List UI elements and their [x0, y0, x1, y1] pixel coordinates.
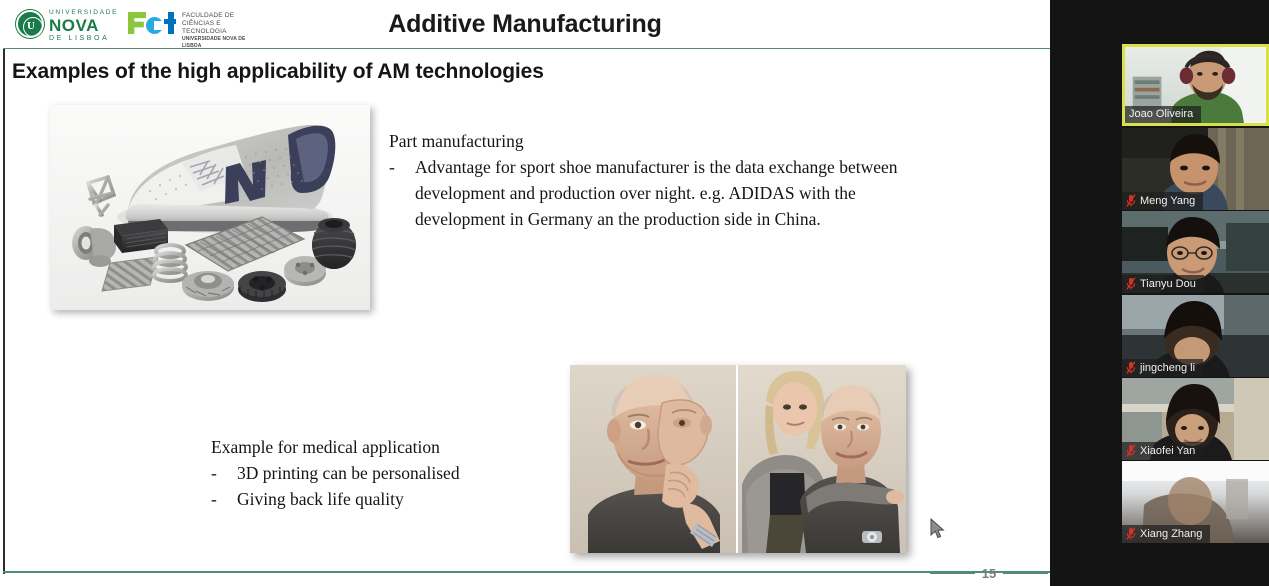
participant-video-strip[interactable]: Joao Oliveira: [1050, 0, 1269, 586]
participant-name: Joao Oliveira: [1129, 108, 1193, 120]
medical-photo-graphic: [570, 365, 906, 553]
part-manufacturing-title: Part manufacturing: [389, 128, 934, 154]
slide-number: 15: [982, 566, 996, 581]
participant-label: Xiaofei Yan: [1122, 442, 1203, 460]
bullet-marker: -: [211, 486, 237, 512]
participant-name: jingcheng li: [1140, 362, 1195, 374]
shoe-and-printed-parts-image: [50, 105, 370, 310]
slide-number-area: 15: [930, 562, 1048, 584]
part-manufacturing-bullet: - Advantage for sport shoe manufacturer …: [389, 154, 934, 232]
slide-heading: Examples of the high applicability of AM…: [12, 60, 544, 84]
slide-left-rule: [3, 44, 5, 574]
zoom-screen-share-window: U UNIVERSIDADE NOVA DE LISBOA: [0, 0, 1269, 586]
video-tile-xiang-zhang[interactable]: Xiang Zhang: [1122, 461, 1269, 543]
participant-name: Tianyu Dou: [1140, 278, 1196, 290]
participant-label: Meng Yang: [1122, 192, 1203, 210]
video-tile-tianyu-dou[interactable]: Tianyu Dou: [1122, 211, 1269, 293]
video-tile-jingcheng-li[interactable]: jingcheng li: [1122, 295, 1269, 377]
video-tile-meng-yang[interactable]: Meng Yang: [1122, 128, 1269, 210]
shared-presentation-slide: U UNIVERSIDADE NOVA DE LISBOA: [0, 0, 1050, 586]
mouse-cursor: [930, 518, 946, 540]
participant-label: Tianyu Dou: [1122, 275, 1204, 293]
shoe-photo-graphic: [50, 105, 370, 310]
participant-label: Joao Oliveira: [1125, 106, 1201, 123]
slide-footer-divider: [3, 571, 1050, 573]
medical-prosthesis-image: [570, 365, 906, 553]
video-tile-joao-oliveira[interactable]: Joao Oliveira: [1122, 44, 1269, 126]
microphone-muted-icon: [1126, 527, 1136, 540]
participant-label: Xiang Zhang: [1122, 525, 1210, 543]
microphone-muted-icon: [1126, 361, 1136, 374]
slide-title: Additive Manufacturing: [0, 10, 1050, 39]
microphone-muted-icon: [1126, 444, 1136, 457]
bullet-text: 3D printing can be personalised: [237, 460, 571, 486]
bullet-text: Giving back life quality: [237, 486, 571, 512]
medical-title: Example for medical application: [211, 434, 571, 460]
slide-header: U UNIVERSIDADE NOVA DE LISBOA: [0, 0, 1050, 48]
medical-application-text-block: Example for medical application - 3D pri…: [211, 434, 571, 512]
participant-label: jingcheng li: [1122, 359, 1203, 377]
bullet-text: Advantage for sport shoe manufacturer is…: [415, 154, 934, 232]
participant-name: Xiaofei Yan: [1140, 445, 1195, 457]
slide-number-rule-right: [1003, 572, 1048, 574]
microphone-muted-icon: [1126, 194, 1136, 207]
medical-bullet-1: - 3D printing can be personalised: [211, 460, 571, 486]
video-tile-xiaofei-yan[interactable]: Xiaofei Yan: [1122, 378, 1269, 460]
participant-name: Meng Yang: [1140, 195, 1195, 207]
bullet-marker: -: [389, 154, 415, 232]
medical-bullet-2: - Giving back life quality: [211, 486, 571, 512]
participant-name: Xiang Zhang: [1140, 528, 1202, 540]
bullet-marker: -: [211, 460, 237, 486]
slide-number-rule-left: [930, 572, 975, 574]
microphone-muted-icon: [1126, 277, 1136, 290]
part-manufacturing-text-block: Part manufacturing - Advantage for sport…: [389, 128, 934, 232]
